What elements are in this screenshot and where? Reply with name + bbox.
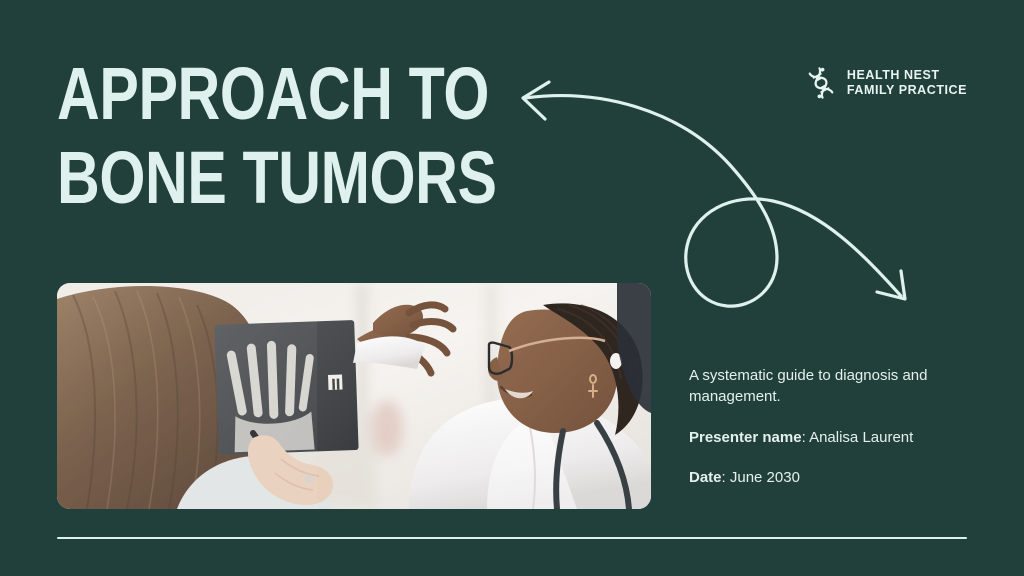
date-separator: : <box>722 469 730 486</box>
slide-details: A systematic guide to diagnosis and mana… <box>689 365 974 488</box>
date-label: Date <box>689 469 722 486</box>
brand-logo: Health Nest Family Practice <box>804 66 967 100</box>
page-title: Approach to Bone Tumors <box>57 58 527 214</box>
dna-helix-icon <box>804 66 838 100</box>
logo-line-1: Health Nest <box>847 68 967 83</box>
presenter-separator: : <box>802 429 810 446</box>
presenter-label: Presenter name <box>689 429 802 446</box>
date-value: June 2030 <box>730 469 800 486</box>
title-line-2: Bone Tumors <box>57 142 433 214</box>
bottom-divider <box>57 537 967 539</box>
presenter-value: Analisa Laurent <box>809 429 913 446</box>
logo-wordmark: Health Nest Family Practice <box>847 68 967 99</box>
presentation-slide: Approach to Bone Tumors Health <box>0 0 1024 576</box>
presenter-row: Presenter name: Analisa Laurent <box>689 427 974 448</box>
subtitle-text: A systematic guide to diagnosis and mana… <box>689 365 974 408</box>
title-line-1: Approach to <box>57 58 433 130</box>
hero-photo <box>57 283 651 509</box>
date-row: Date: June 2030 <box>689 467 974 488</box>
logo-line-2: Family Practice <box>847 83 967 98</box>
